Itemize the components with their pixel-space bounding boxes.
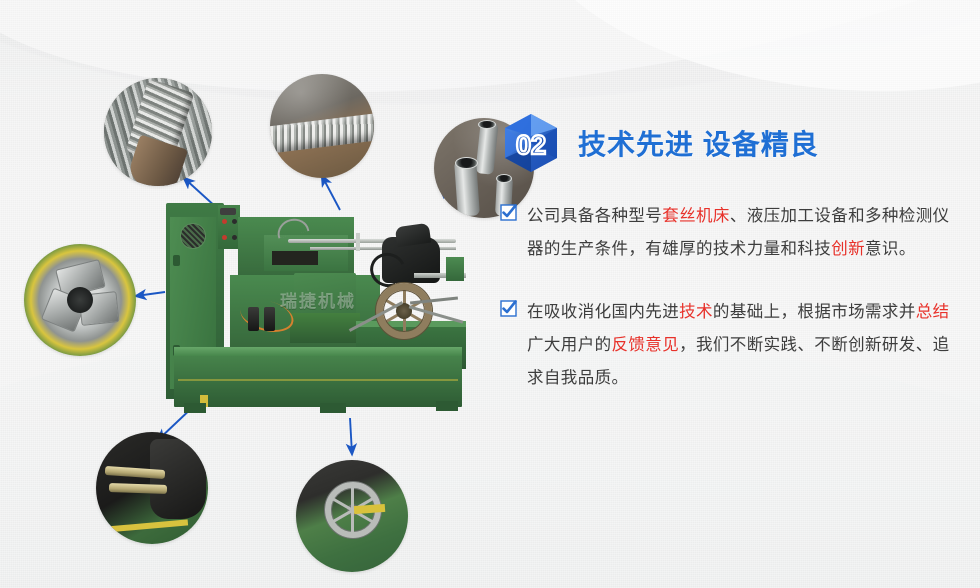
highlighted-phrase: 创新	[831, 240, 865, 258]
highlighted-phrase: 技术	[679, 303, 713, 321]
promo-banner: 瑞捷机械 02	[0, 0, 980, 588]
highlighted-phrase: 反馈意见	[612, 336, 680, 354]
checkbox-checked-icon	[500, 300, 517, 317]
body-phrase: 的基础上，根据市场需求并	[713, 303, 916, 321]
badge-number: 02	[516, 130, 546, 160]
thread-rolling-machine-photo: 瑞捷机械	[160, 195, 505, 430]
section-title: 技术先进 设备精良	[578, 123, 819, 163]
threaded-rebar-closeup	[104, 78, 212, 186]
bullet-text-1: 公司具备各种型号套丝机床、液压加工设备和多种检测仪器的生产条件，有雄厚的技术力量…	[527, 200, 960, 266]
handwheel-detail	[296, 460, 408, 572]
bullet-text-2: 在吸收消化国内先进技术的基础上，根据市场需求并总结广大用户的反馈意见，我们不断实…	[527, 296, 960, 395]
bullet-item-1: 公司具备各种型号套丝机床、液压加工设备和多种检测仪器的生产条件，有雄厚的技术力量…	[500, 200, 960, 266]
thread-cutting-die-head	[24, 244, 136, 356]
threaded-bar-on-bench	[270, 74, 374, 178]
section-heading: 02 技术先进 设备精良	[500, 108, 960, 178]
body-phrase: 广大用户的	[527, 336, 612, 354]
background-arc-right	[514, 0, 980, 101]
checkbox-checked-icon	[500, 204, 517, 221]
highlighted-phrase: 总结	[916, 303, 950, 321]
hexagon-number-badge: 02	[500, 112, 562, 174]
machine-vent-grille	[180, 223, 206, 249]
body-phrase: 在吸收消化国内先进	[527, 303, 679, 321]
motor-wiring-detail	[96, 432, 208, 544]
bullet-item-2: 在吸收消化国内先进技术的基础上，根据市场需求并总结广大用户的反馈意见，我们不断实…	[500, 296, 960, 395]
machine-watermark: 瑞捷机械	[280, 291, 400, 313]
body-phrase: 公司具备各种型号	[527, 207, 662, 225]
content-column: 02 技术先进 设备精良 公司具备各种型号套丝机床、液压加工设备和多种检测仪器的…	[500, 108, 960, 395]
highlighted-phrase: 套丝机床	[662, 207, 730, 225]
body-phrase: 意识。	[865, 240, 916, 258]
